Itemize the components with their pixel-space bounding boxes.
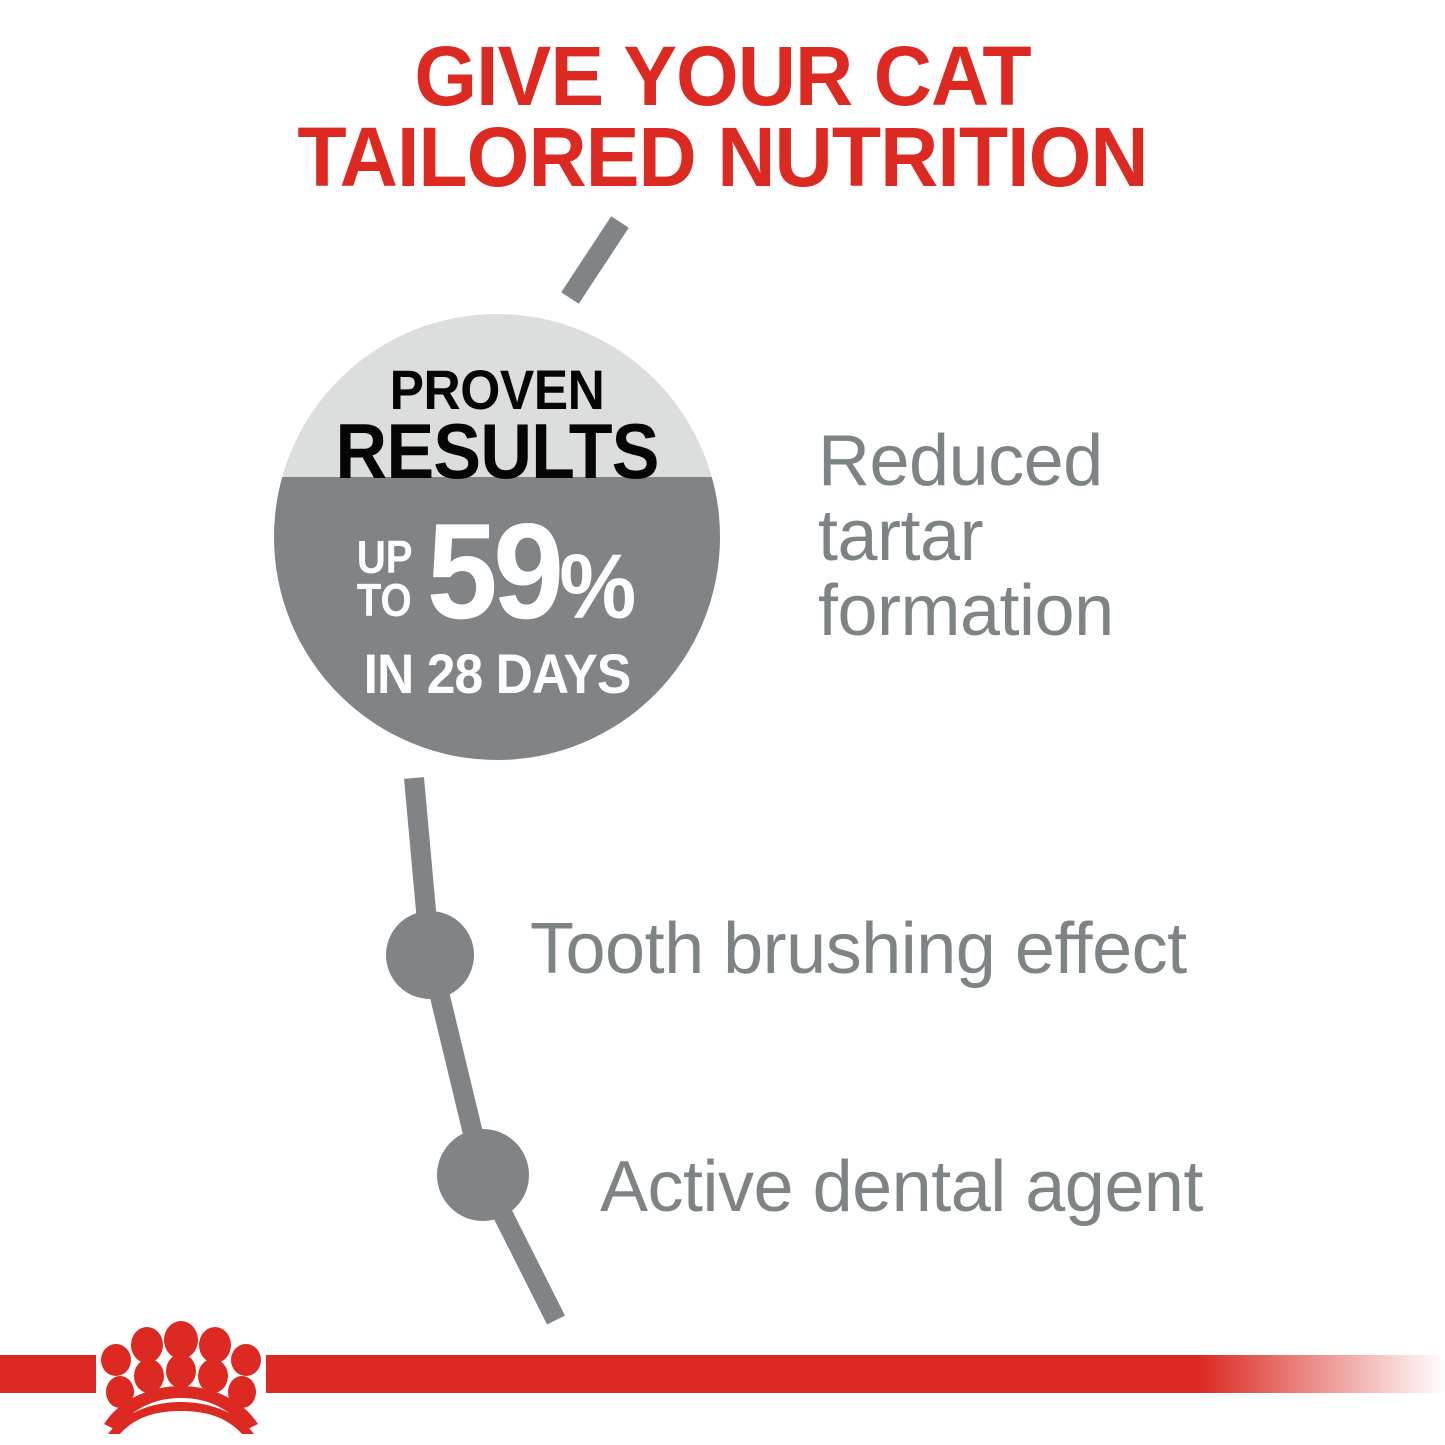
royal-canin-crown-logo xyxy=(96,1318,266,1434)
headline-line-2: TAILORED NUTRITION xyxy=(29,117,1416,198)
benefit-label-active-dental-agent: Active dental agent xyxy=(600,1150,1203,1225)
connector-node-2 xyxy=(437,1129,529,1221)
badge-value-number: 59 xyxy=(427,495,560,647)
benefit-label-reduced-tartar-formation: Reduced tartar formation xyxy=(818,424,1114,649)
proven-results-badge: PROVEN RESULTS UP TO 59% IN 28 DAYS xyxy=(274,314,720,760)
connector-segment-1 xyxy=(414,778,430,955)
connector-segment-top xyxy=(570,222,620,298)
badge-percent-sign: % xyxy=(559,536,634,638)
connector-segment-2 xyxy=(430,955,483,1175)
connector-node-1 xyxy=(386,911,474,999)
badge-stat-row: UP TO 59% xyxy=(274,510,720,632)
poster-canvas: GIVE YOUR CAT TAILORED NUTRITION PROVEN … xyxy=(0,0,1445,1445)
headline-line-1: GIVE YOUR CAT xyxy=(29,36,1416,117)
badge-duration-label: IN 28 DAYS xyxy=(292,646,702,702)
connector-line-graphic xyxy=(0,0,1445,1445)
connector-segment-3 xyxy=(483,1175,556,1320)
benefit-label-tooth-brushing-effect: Tooth brushing effect xyxy=(530,912,1187,987)
badge-upto-label: UP TO xyxy=(357,536,412,623)
badge-value: 59% xyxy=(427,510,635,632)
badge-content: PROVEN RESULTS UP TO 59% IN 28 DAYS xyxy=(274,314,720,760)
badge-results-label: RESULTS xyxy=(292,412,702,490)
badge-up-word: UP xyxy=(357,536,412,580)
page-title: GIVE YOUR CAT TAILORED NUTRITION xyxy=(29,36,1416,199)
badge-to-word: TO xyxy=(357,579,412,623)
